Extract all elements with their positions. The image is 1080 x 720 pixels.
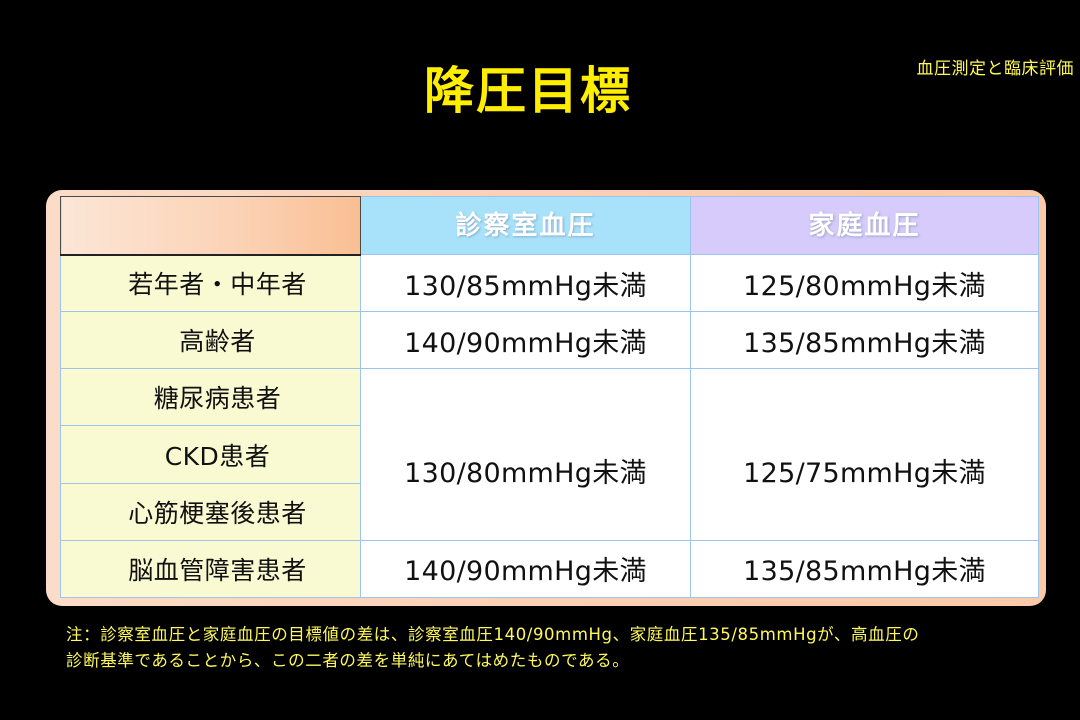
table-header-home-bp-label: 家庭血圧	[691, 213, 1038, 239]
table-row: 高齢者 140/90mmHg未満 135/85mmHg未満	[61, 312, 1039, 369]
bp-target-table: 診察室血圧 家庭血圧 若年者・中年者 130/85mmHg未満 125/80mm…	[60, 196, 1039, 598]
footnote: 注：診察室血圧と家庭血圧の目標値の差は、診察室血圧140/90mmHg、家庭血圧…	[66, 622, 1026, 673]
table-row: 若年者・中年者 130/85mmHg未満 125/80mmHg未満	[61, 255, 1039, 312]
row-label-elderly: 高齢者	[61, 312, 361, 369]
page-title: 降圧目標	[424, 63, 632, 121]
table-header-home-bp: 家庭血圧	[691, 197, 1039, 255]
footnote-line-2: 診断基準であることから、この二者の差を単純にあてはめたものである。	[66, 648, 1026, 674]
table-frame: 診察室血圧 家庭血圧 若年者・中年者 130/85mmHg未満 125/80mm…	[46, 190, 1046, 606]
table-row: 糖尿病患者 130/80mmHg未満 125/75mmHg未満	[61, 369, 1039, 426]
table-header-office-bp-label: 診察室血圧	[361, 213, 690, 239]
value-office-merged-diabetes-ckd-mi: 130/80mmHg未満	[361, 369, 691, 540]
row-label-cerebrovascular-disease: 脳血管障害患者	[61, 540, 361, 597]
value-home-merged-diabetes-ckd-mi: 125/75mmHg未満	[691, 369, 1039, 540]
value-office-young-middle-aged: 130/85mmHg未満	[361, 255, 691, 312]
value-office-cerebrovascular-disease: 140/90mmHg未満	[361, 540, 691, 597]
value-home-elderly: 135/85mmHg未満	[691, 312, 1039, 369]
table-header-row: 診察室血圧 家庭血圧	[61, 197, 1039, 255]
table-header-office-bp: 診察室血圧	[361, 197, 691, 255]
value-home-young-middle-aged: 125/80mmHg未満	[691, 255, 1039, 312]
value-office-elderly: 140/90mmHg未満	[361, 312, 691, 369]
footnote-line-1: 注：診察室血圧と家庭血圧の目標値の差は、診察室血圧140/90mmHg、家庭血圧…	[66, 622, 1026, 648]
row-label-post-myocardial-infarction: 心筋梗塞後患者	[61, 483, 361, 540]
row-label-ckd: CKD患者	[61, 426, 361, 483]
table-header-corner	[61, 197, 361, 255]
table-row: 脳血管障害患者 140/90mmHg未満 135/85mmHg未満	[61, 540, 1039, 597]
value-home-cerebrovascular-disease: 135/85mmHg未満	[691, 540, 1039, 597]
slide-header-label: 血圧測定と臨床評価	[917, 54, 1075, 79]
row-label-diabetes: 糖尿病患者	[61, 369, 361, 426]
row-label-young-middle-aged: 若年者・中年者	[61, 255, 361, 312]
